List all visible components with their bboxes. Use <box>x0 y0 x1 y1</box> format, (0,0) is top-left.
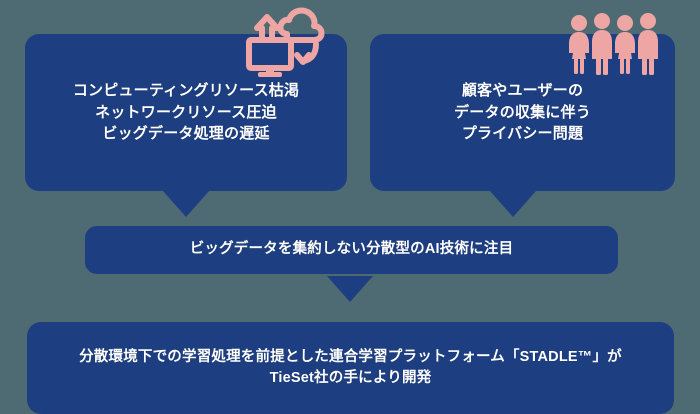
connector-arrow-focus-to-stadle <box>327 276 373 302</box>
diagram-canvas: コンピューティングリソース枯渇 ネットワークリソース圧迫 ビッグデータ処理の遅延 <box>0 0 700 403</box>
problem-box-privacy: 顧客やユーザーの データの収集に伴う プライバシー問題 <box>370 34 675 191</box>
solution-box-stadle-label: 分散環境下での学習処理を前提とした連合学習プラットフォーム「STADLE™」が … <box>61 347 640 389</box>
connector-arrow-privacy-to-focus <box>490 191 536 217</box>
problem-box-privacy-label: 顧客やユーザーの データの収集に伴う プライバシー問題 <box>442 80 603 145</box>
insight-box-distributed-ai-label: ビッグデータを集約しない分散型のAI技術に注目 <box>178 239 526 260</box>
connector-arrow-compute-to-focus <box>163 191 209 217</box>
problem-box-compute-resources-label: コンピューティングリソース枯渇 ネットワークリソース圧迫 ビッグデータ処理の遅延 <box>61 80 311 145</box>
problem-box-compute-resources: コンピューティングリソース枯渇 ネットワークリソース圧迫 ビッグデータ処理の遅延 <box>25 34 347 191</box>
solution-box-stadle: 分散環境下での学習処理を前提とした連合学習プラットフォーム「STADLE™」が … <box>27 322 674 414</box>
insight-box-distributed-ai: ビッグデータを集約しない分散型のAI技術に注目 <box>85 226 618 274</box>
